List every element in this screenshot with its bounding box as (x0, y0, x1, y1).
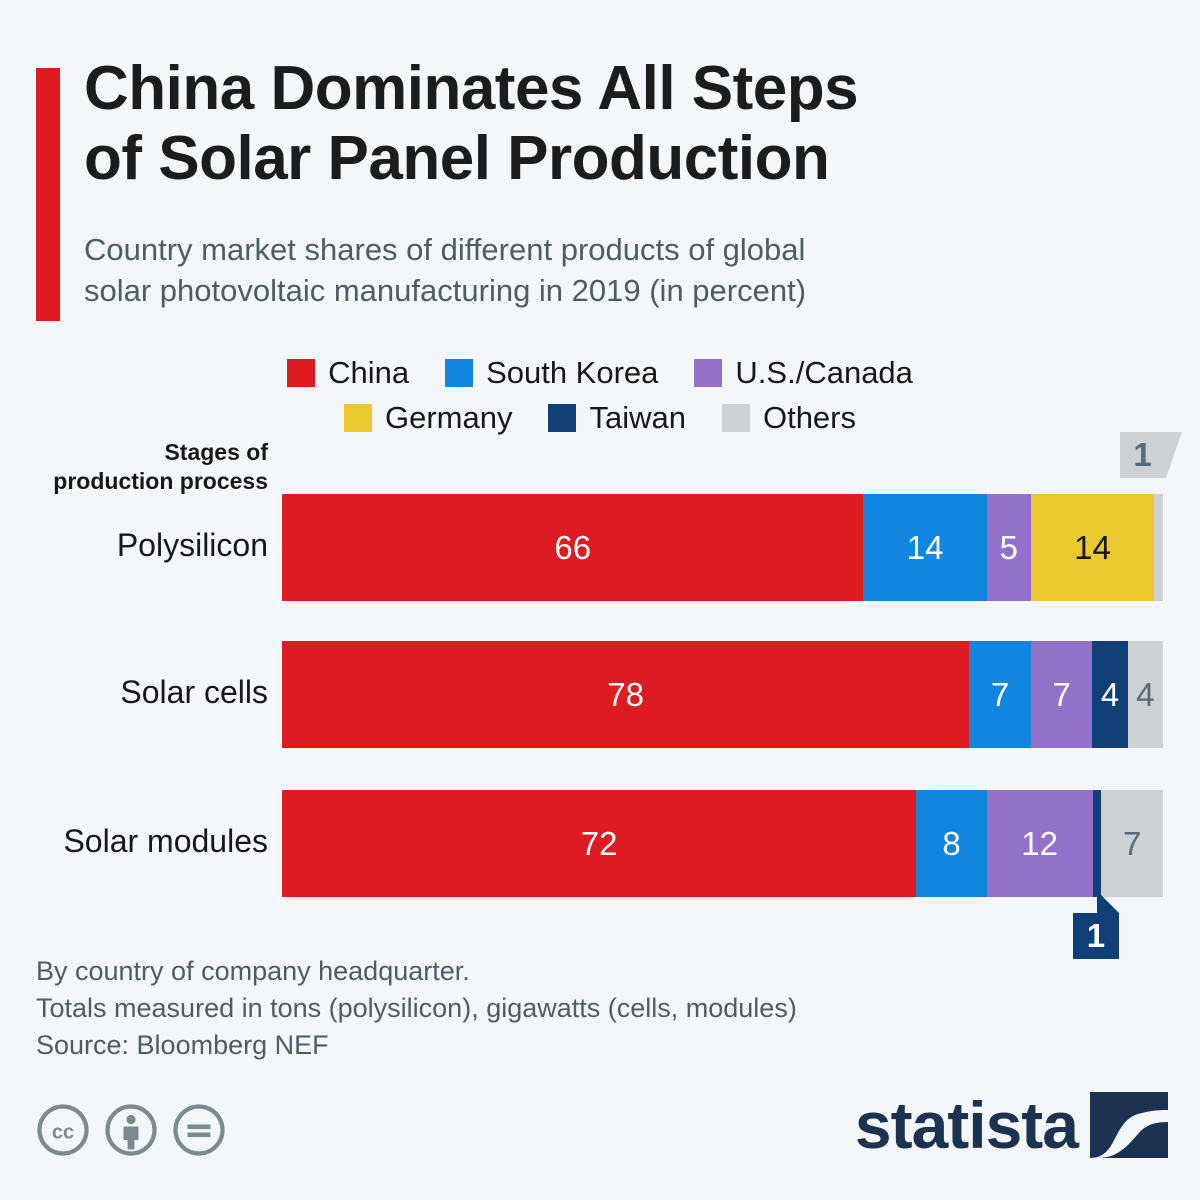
bar-segment-south-korea[interactable]: 8 (916, 790, 986, 897)
bar-segment-u-s-canada[interactable]: 12 (987, 790, 1093, 897)
axis-caption-line-2: production process (0, 467, 268, 496)
bar-row-label: Solar cells (0, 674, 268, 711)
bar-segment-value: 4 (1136, 676, 1154, 714)
source-line: Source: Bloomberg NEF (36, 1027, 797, 1064)
statista-s-mark-icon (1090, 1092, 1168, 1158)
svg-text:cc: cc (52, 1122, 74, 1144)
value-callout-text: 1 (1087, 917, 1105, 955)
bar-row: Polysilicon6614514 (0, 494, 1200, 601)
value-callout: 1 (1073, 913, 1119, 959)
bar-segment-china[interactable]: 78 (282, 641, 969, 748)
value-callout-text: 1 (1133, 436, 1151, 474)
bar-track: 728127 (282, 790, 1163, 897)
axis-caption-line-1: Stages of (0, 438, 268, 467)
footnote-line-2: Totals measured in tons (polysilicon), g… (36, 990, 797, 1027)
no-derivatives-icon[interactable] (172, 1103, 226, 1157)
bar-segment-u-s-canada[interactable]: 5 (987, 494, 1031, 601)
bar-segment-u-s-canada[interactable]: 7 (1031, 641, 1093, 748)
creative-commons-icon[interactable]: cc (36, 1103, 90, 1157)
creative-commons-license-icons: cc (36, 1103, 226, 1157)
bar-row: Solar modules728127 (0, 790, 1200, 897)
bar-segment-value: 78 (607, 676, 644, 714)
bar-row-label: Solar modules (0, 823, 268, 860)
bar-row-label: Polysilicon (0, 527, 268, 564)
bar-segment-china[interactable]: 72 (282, 790, 916, 897)
bar-segment-others[interactable]: 4 (1128, 641, 1163, 748)
value-callout: 1 (1120, 432, 1166, 478)
bar-segment-value: 66 (554, 529, 591, 567)
axis-caption: Stages of production process (0, 438, 268, 496)
footnote-line-1: By country of company headquarter. (36, 953, 797, 990)
bar-row: Solar cells787744 (0, 641, 1200, 748)
attribution-icon[interactable] (104, 1103, 158, 1157)
bar-track: 6614514 (282, 494, 1163, 601)
bar-segment-taiwan[interactable] (1093, 790, 1102, 897)
bar-segment-value: 7 (1052, 676, 1070, 714)
bar-segment-south-korea[interactable]: 7 (969, 641, 1031, 748)
bar-segment-china[interactable]: 66 (282, 494, 863, 601)
bar-segment-taiwan[interactable]: 4 (1092, 641, 1127, 748)
value-callout-tail (1166, 432, 1182, 478)
bar-track: 787744 (282, 641, 1163, 748)
bar-segment-value: 72 (581, 825, 618, 863)
footnotes: By country of company headquarter. Total… (36, 953, 797, 1064)
bar-segment-value: 14 (1074, 529, 1111, 567)
bar-segment-value: 4 (1101, 676, 1119, 714)
bar-segment-germany[interactable]: 14 (1031, 494, 1154, 601)
bar-segment-value: 5 (1000, 529, 1018, 567)
bar-segment-others[interactable] (1154, 494, 1163, 601)
bar-segment-value: 8 (942, 825, 960, 863)
statista-logo[interactable]: statista (855, 1092, 1168, 1158)
value-callout-tail (1097, 891, 1119, 913)
bar-segment-south-korea[interactable]: 14 (863, 494, 986, 601)
bar-segment-value: 7 (991, 676, 1009, 714)
statista-wordmark: statista (855, 1092, 1078, 1158)
bar-segment-value: 7 (1123, 825, 1141, 863)
bar-segment-value: 14 (907, 529, 944, 567)
bar-segment-value: 12 (1021, 825, 1058, 863)
bar-segment-others[interactable]: 7 (1101, 790, 1163, 897)
